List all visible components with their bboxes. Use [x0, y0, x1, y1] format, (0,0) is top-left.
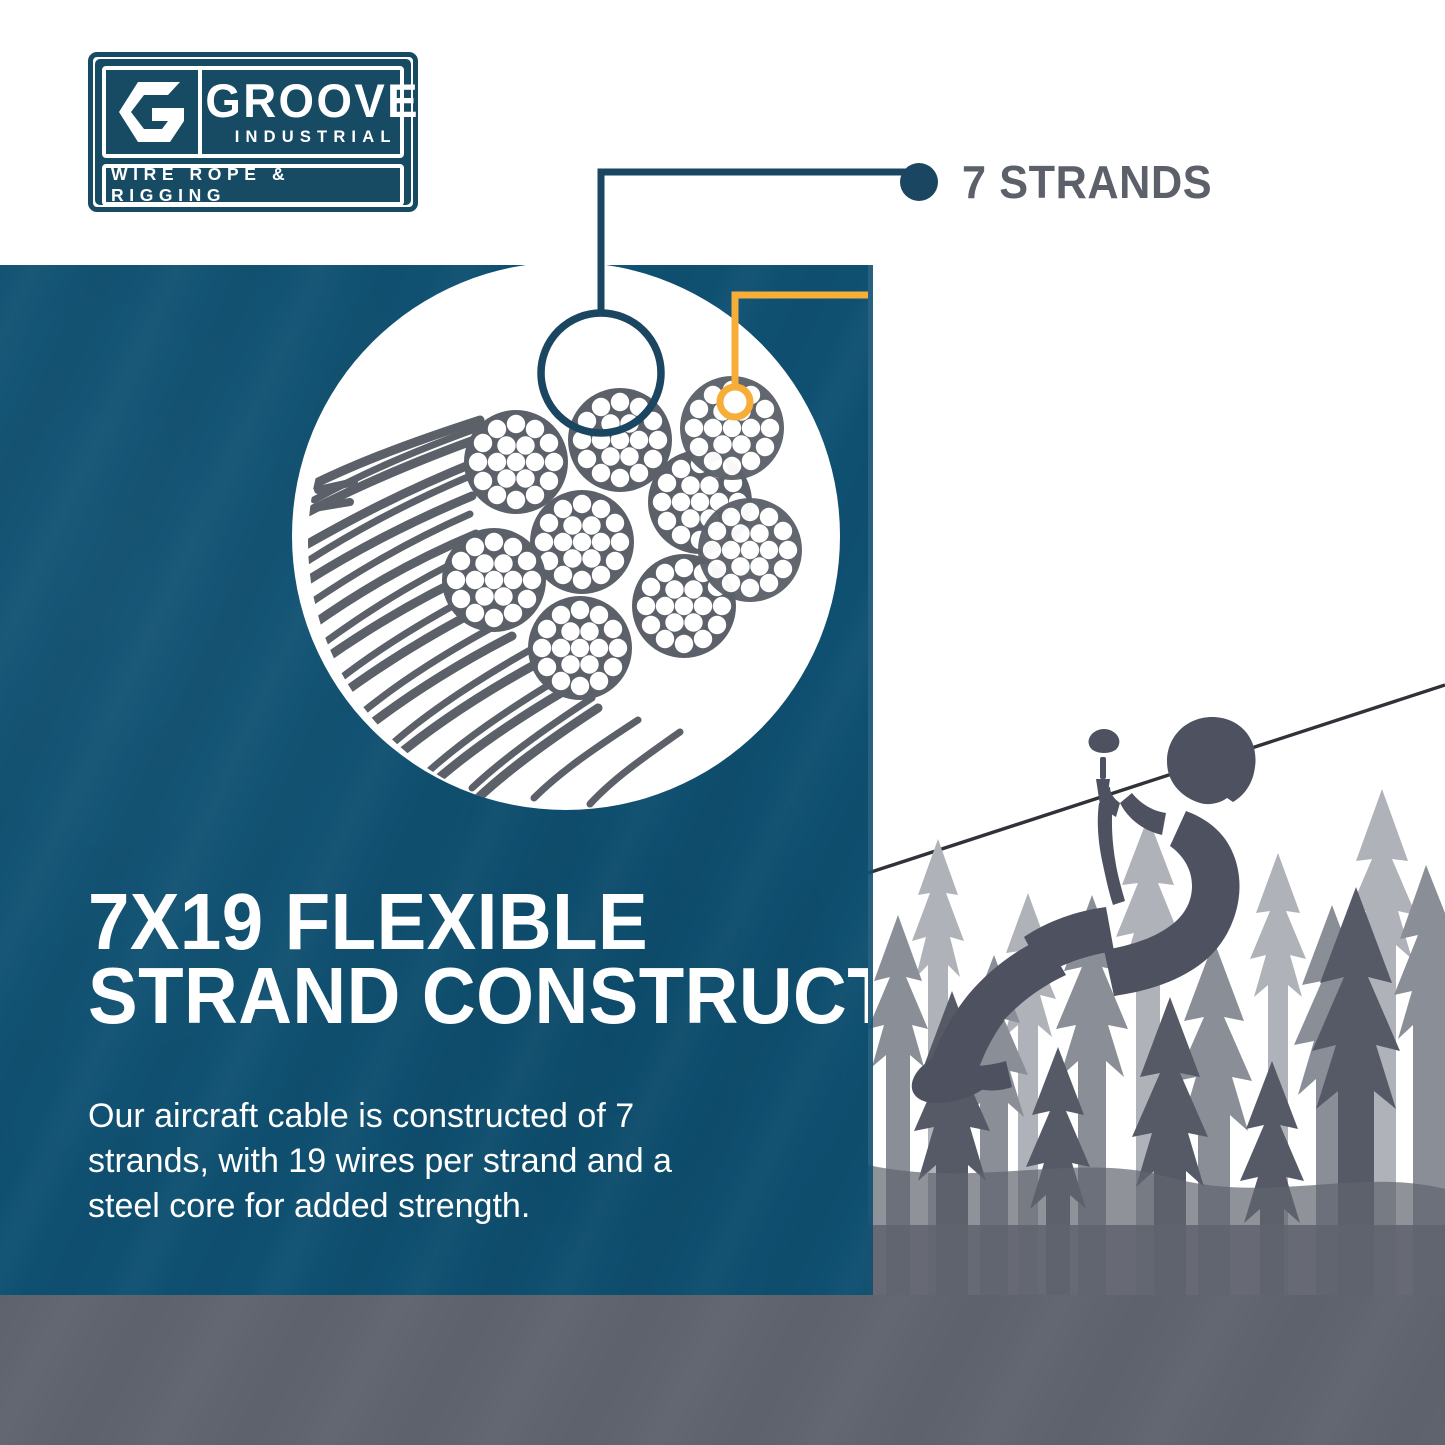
infographic-canvas: 7X19 FLEXIBLE STRAND CONSTRUCTION Our ai… — [0, 0, 1445, 1445]
logo-tagline-box: WIRE ROPE & RIGGING — [102, 164, 404, 206]
logo-mark-cell — [106, 70, 202, 154]
bottom-strip-texture — [0, 1295, 1445, 1445]
body-description: Our aircraft cable is constructed of 7 s… — [88, 1094, 748, 1230]
brand-subname: INDUSTRIAL — [229, 128, 397, 147]
callout-dot-icon — [900, 163, 938, 201]
brand-tagline: WIRE ROPE & RIGGING — [106, 164, 400, 206]
logo-inner-fill: GROOVE INDUSTRIAL WIRE ROPE & RIGGING — [95, 59, 411, 205]
zipline-rider-photo — [868, 265, 1445, 1295]
headline-line-1: 7X19 FLEXIBLE — [88, 885, 795, 959]
bottom-accent-strip — [0, 1295, 1445, 1445]
groove-g-monogram-icon — [118, 81, 186, 143]
page-title: 7X19 FLEXIBLE STRAND CONSTRUCTION — [88, 885, 848, 1032]
callout-label: 7 STRANDS — [962, 155, 1212, 209]
wire-ring-marker-icon — [720, 387, 750, 417]
brand-logo[interactable]: GROOVE INDUSTRIAL WIRE ROPE & RIGGING — [88, 52, 418, 212]
logo-top-box: GROOVE INDUSTRIAL — [102, 66, 404, 158]
callout-7-strands[interactable]: 7 STRANDS — [900, 155, 1228, 209]
brand-name: GROOVE — [205, 79, 420, 122]
headline-line-2: STRAND CONSTRUCTION — [88, 959, 795, 1033]
logo-word-cell: GROOVE INDUSTRIAL — [202, 70, 423, 154]
